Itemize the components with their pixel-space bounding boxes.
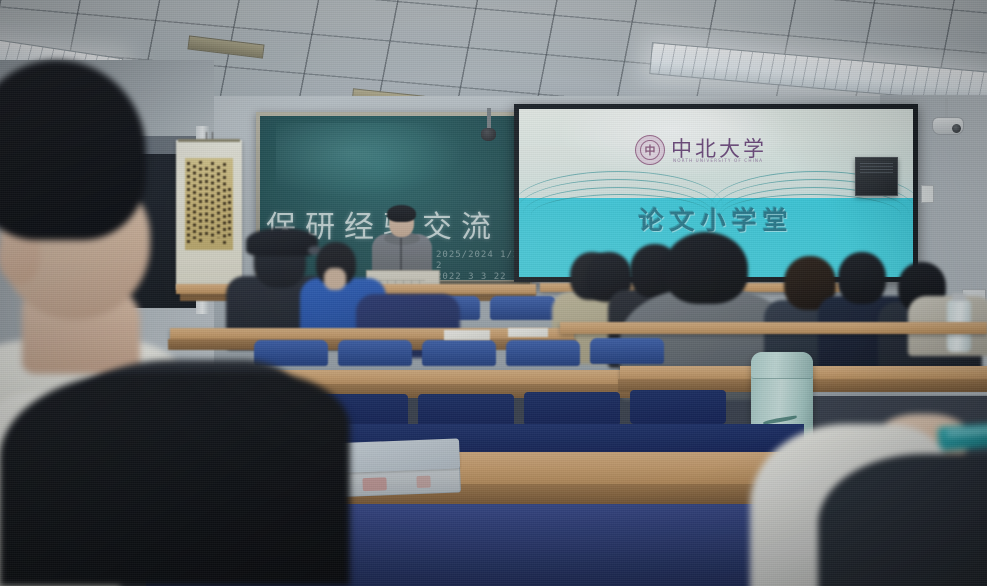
chair-row3-5 [590, 338, 664, 364]
pencil-case-contents-1 [362, 477, 386, 491]
projector-lens-icon [952, 124, 961, 133]
board-lamp-icon [481, 128, 496, 141]
slide-title: 论文小学堂 [519, 201, 913, 237]
university-seal-icon: 中 [635, 135, 665, 165]
chair-row3-4 [506, 340, 580, 366]
board-lamp-stem [487, 108, 491, 130]
projector-mount-arm [945, 98, 948, 119]
foreground-student-left [0, 60, 220, 390]
chair-row2-3 [418, 394, 514, 428]
desk-row-3-right [560, 322, 987, 334]
paper-sheet-1 [444, 330, 490, 340]
chair-row3-3 [422, 340, 496, 366]
chair-row2-5 [630, 390, 726, 424]
seal-mark: 中 [645, 142, 656, 158]
light-switch[interactable] [921, 185, 934, 203]
foreground-student-right [740, 392, 987, 586]
foreground-left-hair [0, 60, 146, 240]
presenter-hair [387, 205, 416, 222]
pencil-case-contents-2 [416, 476, 430, 489]
bottle-cap [952, 293, 966, 301]
chalkboard-sheen [276, 123, 464, 198]
pencil-case-lid [333, 438, 460, 473]
thermos-lid [751, 352, 813, 379]
wall-speaker-icon [855, 157, 898, 196]
paper-sheet-2 [508, 328, 548, 337]
classroom-photo: 保研经验交流 2025/2024 1/24 2 2022 3 3 22 [0, 0, 987, 586]
foreground-shoulder-dark [0, 372, 350, 586]
university-name-en: NORTH UNIVERSITY OF CHINA [673, 158, 763, 163]
university-logo: 中 中北大学 NORTH UNIVERSITY OF CHINA [611, 131, 821, 171]
chair-row2-4 [524, 392, 620, 426]
chair-row3-2 [338, 340, 412, 366]
chair-far-4 [490, 296, 556, 320]
